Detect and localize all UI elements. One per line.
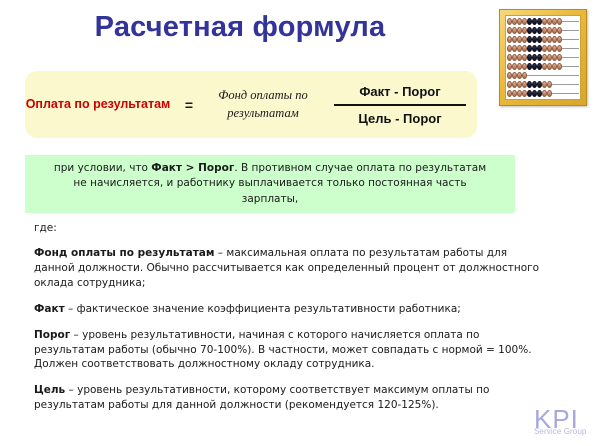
definition-item: Факт – фактическое значение коэффициента… — [34, 302, 546, 317]
formula-equals-sign: = — [171, 97, 207, 113]
definition-term: Порог — [34, 329, 70, 341]
abacus-frame-inner — [505, 15, 581, 100]
formula-left-term: Оплата по результатам — [25, 96, 171, 113]
page-title: Расчетная формула — [0, 11, 480, 44]
fraction-numerator: Факт - Порог — [359, 82, 440, 101]
abacus-bead-group — [507, 81, 552, 88]
definition-item: Фонд оплаты по результатам – максимальна… — [34, 246, 546, 291]
lead-in-text: где: — [34, 222, 546, 234]
definition-term: Цель — [34, 384, 65, 396]
abacus-bead-group — [507, 45, 562, 52]
abacus-row — [506, 90, 580, 97]
definition-text: – уровень результативности, начиная с ко… — [34, 329, 532, 371]
fraction-denominator: Цель - Порог — [358, 109, 441, 128]
definitions-area: где: Фонд оплаты по результатам – максим… — [34, 222, 546, 424]
condition-text: при условии, что Факт > Порог. В противн… — [53, 161, 487, 207]
definition-item: Порог – уровень результативности, начина… — [34, 328, 546, 373]
abacus-row — [506, 63, 580, 70]
kpi-logo-tagline: Service Group — [534, 427, 596, 436]
abacus-bead-group — [507, 72, 527, 79]
abacus-row — [506, 18, 580, 25]
formula-box: Оплата по результатам = Фонд оплаты по р… — [25, 71, 477, 138]
abacus-row — [506, 72, 580, 79]
definition-term: Фонд оплаты по результатам — [34, 247, 214, 259]
condition-box: при условии, что Факт > Порог. В противн… — [25, 155, 515, 213]
abacus-icon — [499, 9, 587, 106]
abacus-row — [506, 27, 580, 34]
abacus-bead-group — [507, 18, 562, 25]
abacus-bead-group — [507, 27, 562, 34]
abacus-row — [506, 54, 580, 61]
formula-fund-term: Фонд оплаты по результатам — [207, 87, 319, 122]
abacus-bead-group — [507, 36, 562, 43]
abacus-bead-group — [507, 63, 562, 70]
kpi-logo: KPI Service Group — [534, 406, 596, 442]
definition-term: Факт — [34, 303, 65, 315]
definition-text: – уровень результативности, которому соо… — [34, 384, 489, 411]
abacus-row — [506, 36, 580, 43]
definition-text: – фактическое значение коэффициента резу… — [65, 303, 461, 315]
abacus-row — [506, 81, 580, 88]
abacus-bead-group — [507, 54, 562, 61]
abacus-bead-group — [507, 90, 552, 97]
definition-item: Цель – уровень результативности, котором… — [34, 383, 546, 413]
condition-prefix: при условии, что — [54, 162, 151, 174]
abacus-row — [506, 45, 580, 52]
formula-fraction: Факт - Порог Цель - Порог — [319, 82, 477, 128]
condition-bold-part: Факт > Порог — [151, 162, 234, 174]
fraction-bar — [334, 104, 466, 106]
